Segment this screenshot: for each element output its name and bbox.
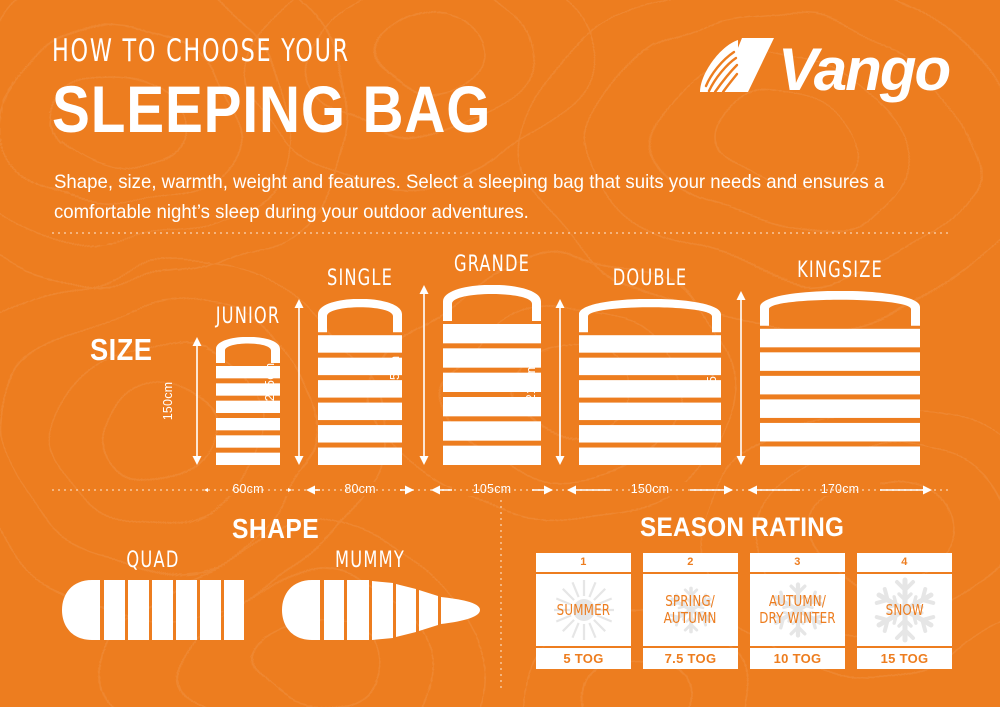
- bag-stripe: [760, 399, 920, 418]
- size-item-kingsize: KINGSIZE225cm170cm: [0, 248, 1000, 480]
- height-dimension-label: 225cm: [705, 348, 719, 408]
- season-card-tog: 5 TOG: [536, 648, 631, 669]
- bag-stripe: [760, 446, 920, 465]
- vango-logo-text: Vango: [778, 36, 949, 103]
- season-rating-cards: 1SUMMER5 TOG2SPRING/AUTUMN7.5 TOG3AUTUMN…: [536, 553, 952, 669]
- season-card-1[interactable]: 1SUMMER5 TOG: [536, 553, 631, 669]
- season-card-number: 4: [857, 553, 952, 572]
- mummy-sleeping-bag-icon: [282, 580, 480, 640]
- season-card-label: SPRING/AUTUMN: [664, 593, 717, 627]
- size-name-kingsize: KINGSIZE: [766, 258, 914, 283]
- season-card-tog: 7.5 TOG: [643, 648, 738, 669]
- header-kicker: HOW TO CHOOSE YOUR: [52, 36, 461, 67]
- season-card-4[interactable]: 4SNOW15 TOG: [857, 553, 952, 669]
- height-dimension-arrow: [734, 291, 748, 465]
- season-card-label: SUMMER: [557, 602, 611, 619]
- season-card-number: 2: [643, 553, 738, 572]
- season-card-tog: 15 TOG: [857, 648, 952, 669]
- season-card-2[interactable]: 2SPRING/AUTUMN7.5 TOG: [643, 553, 738, 669]
- season-card-body: AUTUMN/DRY WINTER: [750, 574, 845, 646]
- header-subtitle: Shape, size, warmth, weight and features…: [54, 168, 909, 227]
- season-card-3[interactable]: 3AUTUMN/DRY WINTER10 TOG: [750, 553, 845, 669]
- season-card-body: SPRING/AUTUMN: [643, 574, 738, 646]
- season-card-body: SUMMER: [536, 574, 631, 646]
- bag-stripe: [760, 376, 920, 395]
- divider-mid: [52, 489, 948, 491]
- bag-stripe: [760, 329, 920, 348]
- season-card-label: SNOW: [885, 602, 923, 619]
- season-card-number: 3: [750, 553, 845, 572]
- season-card-label: AUTUMN/DRY WINTER: [759, 593, 835, 627]
- page-title: SLEEPING BAG: [52, 74, 491, 145]
- quad-sleeping-bag-icon: [62, 580, 246, 640]
- bag-stripe: [760, 352, 920, 371]
- divider-header: [52, 232, 948, 234]
- shape-name-mummy: MUMMY: [313, 548, 428, 573]
- sleeping-bag-shape: [760, 291, 920, 465]
- season-card-body: SNOW: [857, 574, 952, 646]
- season-section-label: SEASON RATING: [640, 512, 844, 543]
- bag-stripe: [760, 423, 920, 442]
- shape-name-quad: QUAD: [100, 548, 207, 573]
- shape-section-label: SHAPE: [232, 513, 319, 545]
- season-card-number: 1: [536, 553, 631, 572]
- vango-logo: Vango: [678, 34, 978, 106]
- season-card-tog: 10 TOG: [750, 648, 845, 669]
- page-header: HOW TO CHOOSE YOUR SLEEPING BAG: [52, 36, 563, 145]
- size-diagrams: JUNIOR150cm60cmSINGLE215cm80cmGRANDE235c…: [0, 248, 1000, 480]
- divider-vertical: [500, 500, 502, 688]
